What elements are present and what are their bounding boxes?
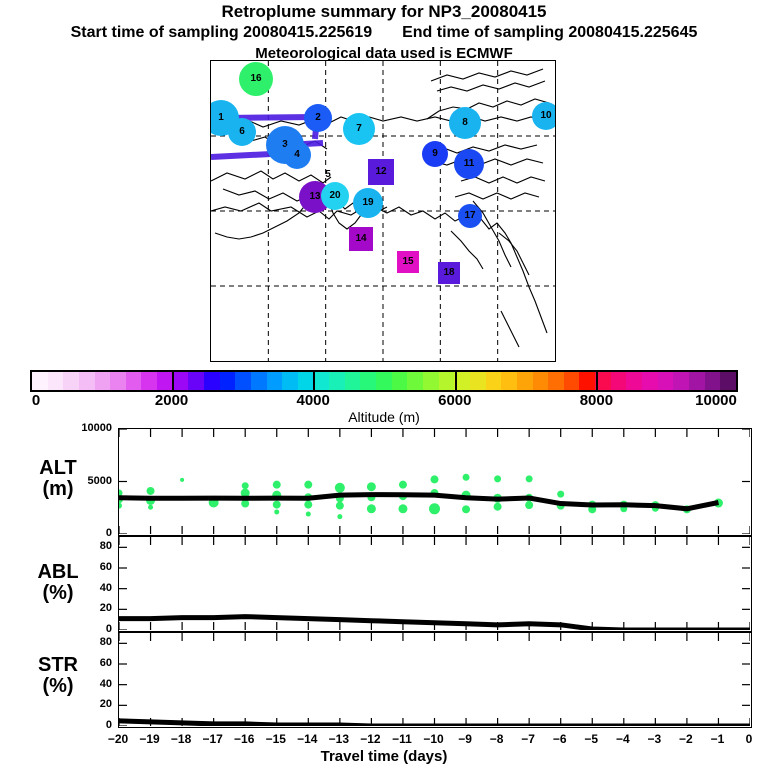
x-tick: −13 bbox=[329, 732, 349, 746]
alt-scatter-point bbox=[525, 501, 533, 509]
colorbar-tick: 6000 bbox=[438, 392, 471, 409]
abl-y-tick: 20 bbox=[66, 602, 112, 614]
map-marker-14[interactable]: 14 bbox=[349, 227, 373, 251]
map-marker-6[interactable]: 6 bbox=[228, 118, 256, 146]
map-marker-19[interactable]: 19 bbox=[353, 188, 383, 218]
colorbar-separator bbox=[313, 370, 315, 392]
colorbar-band-37 bbox=[611, 372, 627, 390]
alt-scatter-point bbox=[398, 504, 407, 513]
colorbar-band-17 bbox=[298, 372, 314, 390]
map-marker-2[interactable]: 2 bbox=[304, 104, 332, 132]
start-time-label: Start time of sampling 20080415.225619 bbox=[71, 24, 373, 41]
alt-scatter-point bbox=[119, 503, 122, 509]
x-tick: −3 bbox=[648, 732, 662, 746]
x-tick: −6 bbox=[553, 732, 567, 746]
x-tick: −12 bbox=[360, 732, 380, 746]
map-marker-7[interactable]: 7 bbox=[343, 113, 375, 145]
page-title: Retroplume summary for NP3_20080415 bbox=[0, 2, 768, 22]
alt-y-tick: 0 bbox=[66, 527, 112, 539]
alt-scatter-point bbox=[526, 475, 533, 482]
x-axis-title: Travel time (days) bbox=[0, 748, 768, 765]
map-marker-17[interactable]: 17 bbox=[458, 204, 482, 228]
colorbar-band-43 bbox=[705, 372, 721, 390]
x-tick: −20 bbox=[108, 732, 128, 746]
alt-scatter-point bbox=[273, 501, 281, 509]
map-marker-8[interactable]: 8 bbox=[449, 107, 481, 139]
x-tick: −7 bbox=[521, 732, 535, 746]
colorbar-band-4 bbox=[95, 372, 111, 390]
alt-scatter-point bbox=[273, 481, 281, 489]
alt-plot bbox=[119, 429, 750, 534]
alt-y-tick: 10000 bbox=[66, 422, 112, 434]
alt-scatter-point bbox=[335, 483, 345, 493]
colorbar-band-26 bbox=[439, 372, 455, 390]
alt-scatter-point bbox=[180, 478, 184, 482]
colorbar-band-16 bbox=[282, 372, 298, 390]
str-y-tick: 80 bbox=[66, 636, 112, 648]
x-tick: 0 bbox=[746, 732, 753, 746]
colorbar-band-3 bbox=[79, 372, 95, 390]
str-panel[interactable] bbox=[118, 632, 752, 728]
colorbar-band-44 bbox=[720, 372, 736, 390]
map-marker-16[interactable]: 16 bbox=[239, 62, 273, 96]
map-marker-10[interactable]: 10 bbox=[532, 102, 556, 130]
colorbar-band-41 bbox=[673, 372, 689, 390]
x-tick: −9 bbox=[458, 732, 472, 746]
colorbar-separator bbox=[172, 370, 174, 392]
alt-scatter-point bbox=[462, 505, 470, 513]
str-y-tick: 20 bbox=[66, 698, 112, 710]
alt-scatter-point bbox=[306, 512, 311, 517]
colorbar-band-10 bbox=[188, 372, 204, 390]
abl-y-tick: 60 bbox=[66, 561, 112, 573]
colorbar-separator bbox=[596, 370, 598, 392]
x-tick: −11 bbox=[392, 732, 412, 746]
abl-panel[interactable] bbox=[118, 536, 752, 632]
alt-scatter-point bbox=[242, 482, 249, 489]
colorbar-band-33 bbox=[548, 372, 564, 390]
str-y-tick: 0 bbox=[66, 719, 112, 731]
colorbar-band-32 bbox=[533, 372, 549, 390]
x-tick: −18 bbox=[171, 732, 191, 746]
x-tick: −19 bbox=[139, 732, 159, 746]
colorbar-band-30 bbox=[501, 372, 517, 390]
colorbar-band-5 bbox=[110, 372, 126, 390]
alt-scatter-point bbox=[429, 503, 440, 514]
colorbar-band-34 bbox=[564, 372, 580, 390]
colorbar-band-15 bbox=[267, 372, 283, 390]
colorbar-band-0 bbox=[32, 372, 48, 390]
alt-scatter-point bbox=[147, 487, 155, 495]
alt-scatter-point bbox=[399, 481, 407, 489]
map-marker-20[interactable]: 20 bbox=[321, 182, 349, 210]
str-y-tick: 40 bbox=[66, 678, 112, 690]
colorbar-band-13 bbox=[235, 372, 251, 390]
alt-scatter-point bbox=[304, 481, 312, 489]
alt-scatter-point bbox=[463, 474, 470, 481]
alt-scatter-point bbox=[148, 505, 153, 510]
colorbar-band-18 bbox=[314, 372, 330, 390]
x-tick: −14 bbox=[297, 732, 317, 746]
map-marker-15[interactable]: 15 bbox=[397, 251, 419, 273]
colorbar-axis-title: Altitude (m) bbox=[0, 409, 768, 425]
colorbar-band-7 bbox=[141, 372, 157, 390]
colorbar-band-22 bbox=[376, 372, 392, 390]
alt-y-tick: 5000 bbox=[66, 475, 112, 487]
x-tick: −1 bbox=[711, 732, 725, 746]
alt-scatter-point bbox=[274, 509, 279, 514]
colorbar-band-38 bbox=[626, 372, 642, 390]
colorbar-band-23 bbox=[392, 372, 408, 390]
str-plot bbox=[119, 633, 750, 726]
x-tick: −15 bbox=[266, 732, 286, 746]
colorbar-band-40 bbox=[658, 372, 674, 390]
abl-y-tick: 0 bbox=[66, 623, 112, 635]
map-coastlines bbox=[211, 61, 555, 361]
alt-scatter-point bbox=[367, 504, 376, 513]
alt-scatter-point bbox=[431, 475, 439, 483]
alt-scatter-point bbox=[367, 482, 376, 491]
alt-scatter-point bbox=[336, 502, 344, 510]
map-marker-11[interactable]: 11 bbox=[454, 149, 484, 179]
alt-panel[interactable] bbox=[118, 428, 752, 536]
colorbar-band-29 bbox=[486, 372, 502, 390]
colorbar-band-25 bbox=[423, 372, 439, 390]
alt-scatter-point bbox=[494, 503, 502, 511]
x-tick: −10 bbox=[423, 732, 443, 746]
colorbar-band-28 bbox=[470, 372, 486, 390]
colorbar-band-31 bbox=[517, 372, 533, 390]
x-tick: −2 bbox=[679, 732, 693, 746]
colorbar-band-11 bbox=[204, 372, 220, 390]
colorbar-band-20 bbox=[345, 372, 361, 390]
end-time-label: End time of sampling 20080415.225645 bbox=[402, 24, 697, 41]
x-tick: −8 bbox=[490, 732, 504, 746]
alt-scatter-point bbox=[304, 501, 312, 509]
altitude-colorbar bbox=[30, 370, 738, 392]
colorbar-tick: 2000 bbox=[155, 392, 188, 409]
colorbar-band-21 bbox=[360, 372, 376, 390]
colorbar-band-24 bbox=[407, 372, 423, 390]
map-marker-9[interactable]: 9 bbox=[422, 141, 448, 167]
colorbar-tick: 10000 bbox=[695, 392, 737, 409]
map-marker-18[interactable]: 18 bbox=[438, 262, 460, 284]
alt-scatter-point bbox=[494, 475, 501, 482]
colorbar-tick: 0 bbox=[32, 392, 40, 409]
abl-y-tick: 80 bbox=[66, 540, 112, 552]
colorbar-band-35 bbox=[579, 372, 595, 390]
colorbar-tick: 4000 bbox=[297, 392, 330, 409]
x-tick: −4 bbox=[616, 732, 630, 746]
abl-plot bbox=[119, 537, 750, 630]
colorbar-band-12 bbox=[220, 372, 236, 390]
x-tick: −16 bbox=[234, 732, 254, 746]
colorbar-band-8 bbox=[157, 372, 173, 390]
colorbar-band-19 bbox=[329, 372, 345, 390]
colorbar-tick: 8000 bbox=[580, 392, 613, 409]
colorbar-band-1 bbox=[48, 372, 64, 390]
colorbar-band-9 bbox=[173, 372, 189, 390]
retroplume-map[interactable]: 1616234578911121320191415181710 bbox=[210, 60, 556, 362]
sampling-time-row: Start time of sampling 20080415.225619En… bbox=[0, 24, 768, 42]
alt-scatter-point bbox=[337, 514, 342, 519]
colorbar-band-6 bbox=[126, 372, 142, 390]
x-tick: −17 bbox=[202, 732, 222, 746]
x-tick: −5 bbox=[584, 732, 598, 746]
colorbar-separator bbox=[455, 370, 457, 392]
colorbar-band-42 bbox=[689, 372, 705, 390]
x-tick-labels: −20−19−18−17−16−15−14−13−12−11−10−9−8−7−… bbox=[0, 732, 768, 748]
abl-y-tick: 40 bbox=[66, 582, 112, 594]
map-marker-12[interactable]: 12 bbox=[368, 159, 394, 185]
colorbar-band-39 bbox=[642, 372, 658, 390]
alt-scatter-point bbox=[557, 491, 564, 498]
colorbar-band-2 bbox=[63, 372, 79, 390]
colorbar-band-14 bbox=[251, 372, 267, 390]
str-y-tick: 60 bbox=[66, 657, 112, 669]
map-marker-5[interactable]: 5 bbox=[325, 170, 331, 180]
map-marker-4[interactable]: 4 bbox=[283, 141, 311, 169]
